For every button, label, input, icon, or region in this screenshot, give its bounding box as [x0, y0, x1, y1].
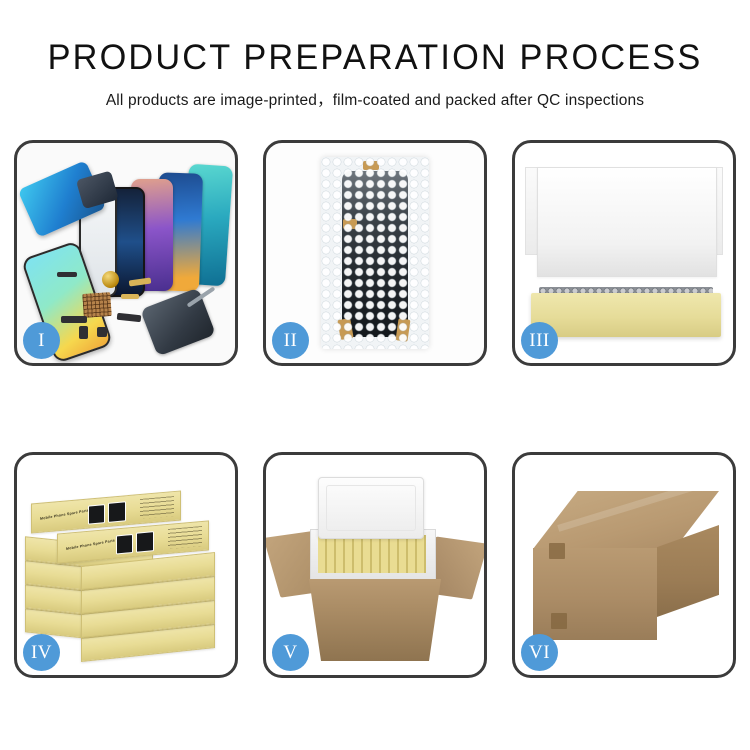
panel-number-badge: I — [23, 322, 60, 359]
screw-set — [97, 327, 107, 337]
panel-carton-with-foam: V — [263, 452, 487, 678]
box-label-text: Mobile Phone Spare Parts — [66, 538, 115, 551]
bubble-wrap-bag — [321, 157, 429, 349]
page-title: PRODUCT PREPARATION PROCESS — [8, 40, 743, 77]
page-subtitle: All products are image-printed，film-coat… — [0, 88, 750, 110]
panel-sealed-carton: VI — [512, 452, 736, 678]
bubble-texture — [321, 157, 429, 349]
flex-cable-2 — [61, 316, 87, 323]
panel-number-badge: VI — [521, 634, 558, 671]
panel-number-badge: II — [272, 322, 309, 359]
process-panel-grid: I II III — [14, 140, 736, 678]
inner-yellow-boxes — [318, 535, 426, 573]
box-phone-image-1 — [116, 534, 133, 554]
foam-lid — [318, 477, 424, 539]
panel-bubble-wrap: II — [263, 140, 487, 366]
speaker-component — [102, 271, 119, 288]
small-connector — [79, 326, 88, 339]
flex-cable-3 — [117, 313, 142, 322]
panel-stacked-boxes: Mobile Phone Spare Parts Mobile Phone Sp… — [14, 452, 238, 678]
panel-phone-parts: I — [14, 140, 238, 366]
box-label-text: Mobile Phone Spare Parts — [40, 508, 89, 521]
chip-grid-component — [82, 292, 112, 318]
carton-body — [300, 579, 450, 661]
box-spec-lines — [168, 526, 202, 549]
flex-cable-1 — [57, 272, 77, 277]
panel-open-inner-box: III — [512, 140, 736, 366]
box-phone-image-2 — [136, 531, 154, 553]
panel-number-badge: III — [521, 322, 558, 359]
flex-cable-gold-2 — [121, 294, 139, 299]
box-phone-image-1 — [88, 504, 105, 524]
phone-back-housing — [140, 288, 216, 357]
yellow-box-tray — [531, 293, 721, 337]
box-spec-lines — [140, 496, 174, 519]
box-phone-image-2 — [108, 501, 126, 523]
panel-number-badge: V — [272, 634, 309, 671]
page-header: PRODUCT PREPARATION PROCESS All products… — [0, 0, 750, 110]
panel-number-badge: IV — [23, 634, 60, 671]
box-lid-white — [537, 167, 717, 277]
carton-tape-tab-top — [549, 543, 565, 559]
carton-tape-tab-bottom — [551, 613, 567, 629]
